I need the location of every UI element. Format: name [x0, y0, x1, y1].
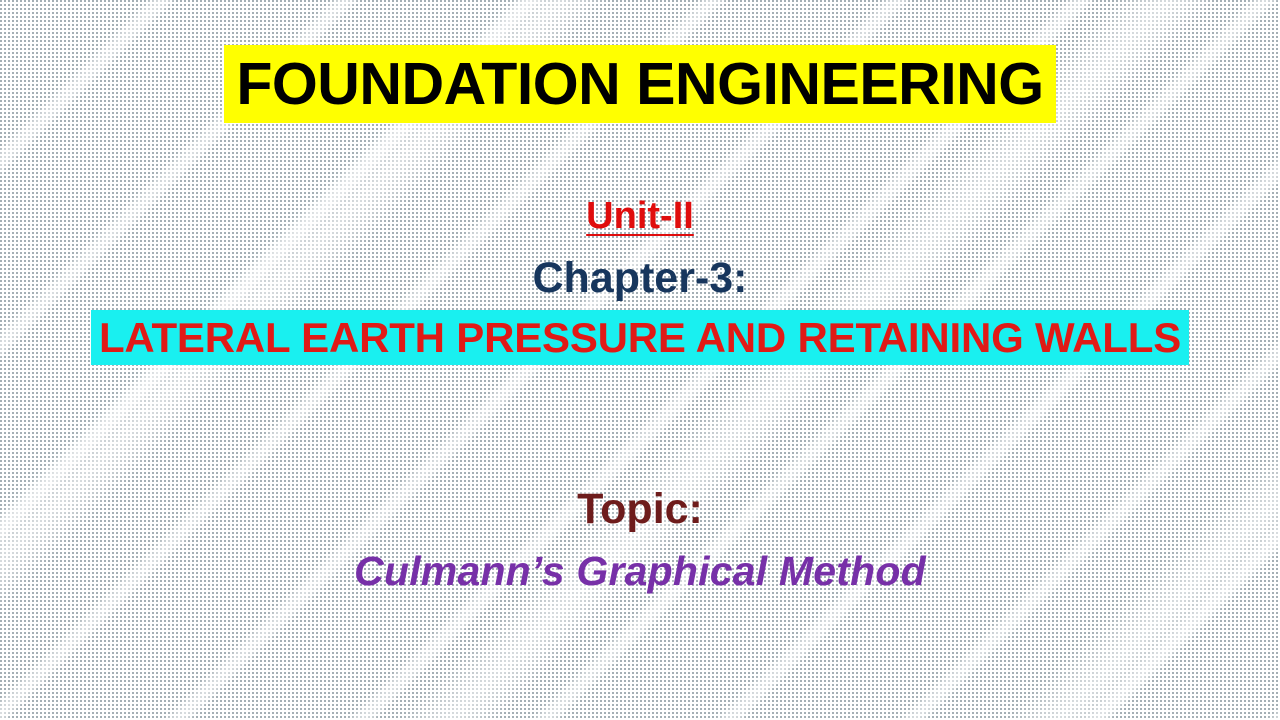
presentation-slide: FOUNDATION ENGINEERING Unit-II Chapter-3… [0, 0, 1280, 720]
topic-value: Culmann’s Graphical Method [354, 545, 926, 597]
chapter-label: Chapter-3: [532, 250, 747, 306]
unit-label: Unit-II [586, 192, 694, 240]
chapter-subject-row: LATERAL EARTH PRESSURE AND RETAINING WAL… [0, 310, 1280, 365]
topic-value-row: Culmann’s Graphical Method [0, 545, 1280, 597]
topic-label: Topic: [577, 482, 703, 537]
chapter-subject-title: LATERAL EARTH PRESSURE AND RETAINING WAL… [91, 310, 1189, 365]
unit-row: Unit-II [0, 192, 1280, 240]
slide-title: FOUNDATION ENGINEERING [224, 45, 1055, 123]
topic-label-row: Topic: [0, 482, 1280, 537]
chapter-row: Chapter-3: [0, 250, 1280, 306]
slide-content: FOUNDATION ENGINEERING Unit-II Chapter-3… [0, 0, 1280, 720]
slide-title-row: FOUNDATION ENGINEERING [0, 45, 1280, 123]
